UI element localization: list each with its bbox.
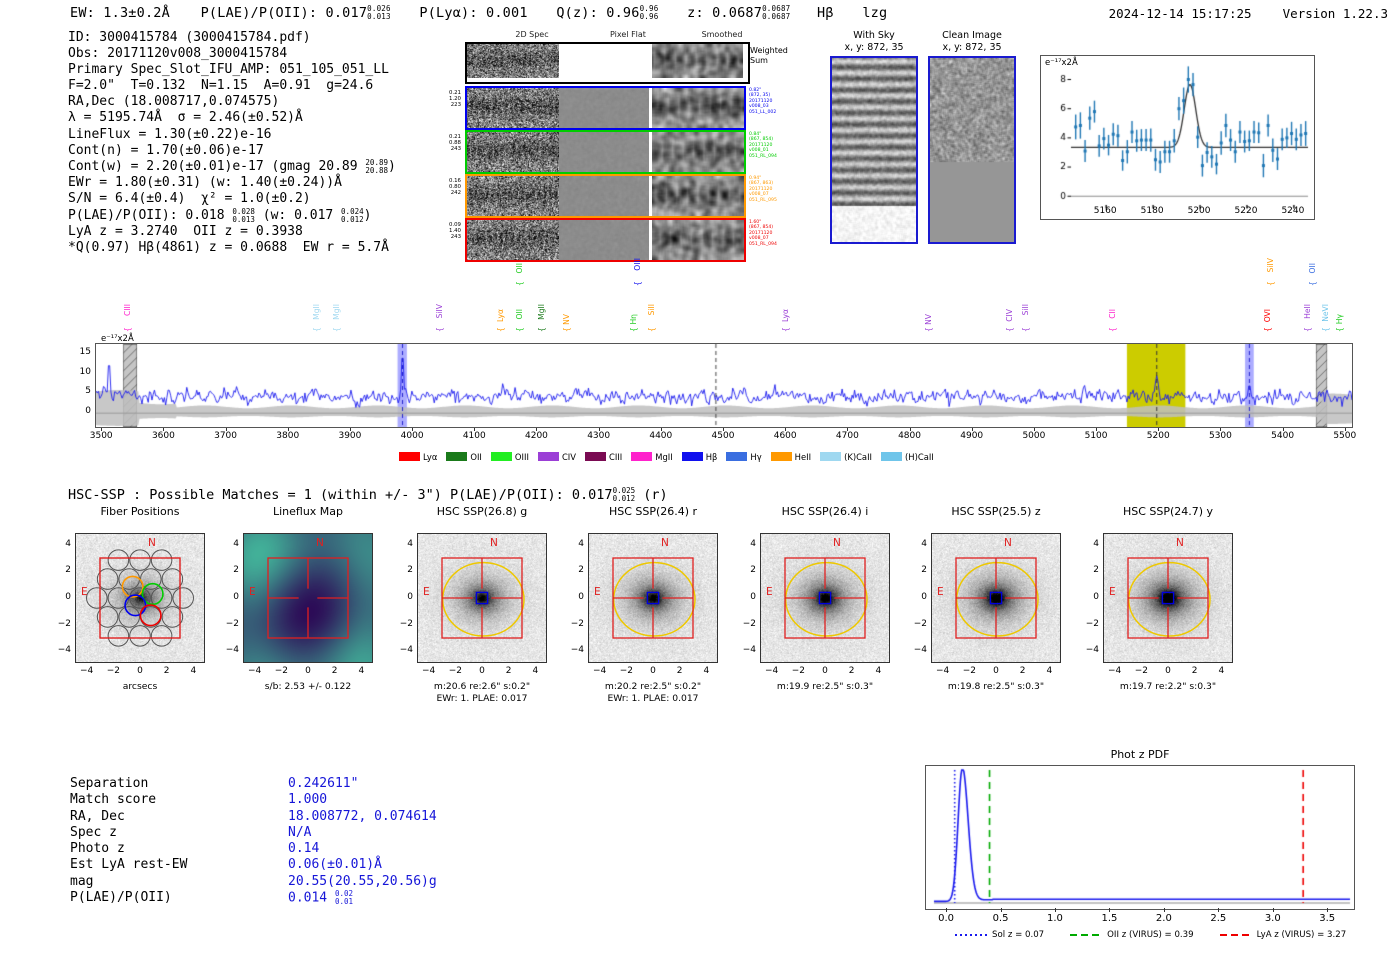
spectrum-xtick: 4500 <box>712 431 735 441</box>
cutout-xtick: −2 <box>1135 666 1148 676</box>
cutout-ytick: −2 <box>740 619 756 629</box>
spec2d-row-label: 1.60"(867, 854)20171120v008_07051_RL_094 <box>749 220 777 247</box>
emission-line-label: HeII <box>1303 304 1312 319</box>
emission-line-label: OII <box>515 263 524 273</box>
legend-label: CIII <box>609 452 622 462</box>
info-obs: Obs: 20171120v008_3000415784 <box>68 46 287 61</box>
emission-line-brace: { <box>1263 327 1272 332</box>
photz-xtick-mark <box>1164 908 1165 912</box>
info-cont-n: Cont(n) = 1.70(±0.06)e-17 <box>68 143 264 158</box>
info-plae-poii: P(LAE)/P(OII): 0.018 0.0280.013 (w: 0.01… <box>68 208 371 223</box>
match-table-value: 1.000 <box>288 792 437 808</box>
spectrum-xtick-mark <box>1096 428 1097 431</box>
match-table-label: Spec z <box>70 825 187 841</box>
match-table-label: Photo z <box>70 841 187 857</box>
cutout-xtick: −2 <box>963 666 976 676</box>
cutout-footer: m:19.7 re:2.2" s:0.3" <box>1068 681 1268 693</box>
cutout-footer-line1: s/b: 2.53 +/- 0.122 <box>208 681 408 693</box>
legend-item: (K)CaII <box>820 452 872 462</box>
spec2d-row-metrics: 0.091.40243 <box>423 222 461 240</box>
cutout-ytick: 0 <box>568 592 584 602</box>
cutout-ytick: 0 <box>911 592 927 602</box>
line-fit-xtick: 5200 <box>1188 206 1211 216</box>
spectrum-xtick: 3700 <box>214 431 237 441</box>
spec2d-col-header-pixelflat: Pixel Flat <box>583 30 673 39</box>
cutout-title: HSC SSP(26.4) r <box>563 505 743 518</box>
emission-line-label: OVI <box>1263 309 1272 322</box>
legend-item: MgII <box>631 452 672 462</box>
legend-label: OIII <box>515 452 529 462</box>
match-table-value: 0.06(±0.01)Å <box>288 857 437 873</box>
cutout-ytick: 2 <box>1083 565 1099 575</box>
spec2d-row-metrics: 0.160.80242 <box>423 178 461 196</box>
match-table-value: 0.242611" <box>288 776 437 792</box>
hsc-match-header: HSC-SSP : Possible Matches = 1 (within +… <box>68 487 668 503</box>
cutout-footer-line2: EWr: 1. PLAE: 0.017 <box>553 693 753 705</box>
with-sky-image <box>830 56 918 244</box>
photz-xtick-mark <box>1218 908 1219 912</box>
photz-legend-item: Sol z = 0.07 <box>955 930 1044 940</box>
emission-line-brace: { <box>647 327 656 332</box>
phot-z-legend: Sol z = 0.07OII z (VIRUS) = 0.39LyA z (V… <box>955 930 1346 940</box>
cutout-xtick: 2 <box>1192 666 1198 676</box>
cutout-footer-line1: m:20.6 re:2.6" s:0.2" <box>382 681 582 693</box>
spectrum-ytick: 0 <box>73 406 91 416</box>
photz-legend-swatch <box>1220 930 1252 940</box>
photz-legend-label: OII z (VIRUS) = 0.39 <box>1107 930 1193 940</box>
emission-line-label: SiII <box>1021 304 1030 315</box>
emission-line-label: OII <box>515 309 524 319</box>
emission-line-label: Lyα <box>781 309 790 322</box>
photz-xtick: 1.5 <box>1101 913 1117 924</box>
emission-line-brace: { <box>1021 327 1030 332</box>
match-table-label: Separation <box>70 776 187 792</box>
spec2d-row-metrics: 0.211.20223 <box>423 90 461 108</box>
header-z-value: 0.0687 <box>712 5 762 21</box>
cutout-xtick: −2 <box>107 666 120 676</box>
photz-xtick-mark <box>1273 908 1274 912</box>
cutout-ytick: 2 <box>911 565 927 575</box>
spectrum-xtick-mark <box>661 428 662 431</box>
emission-line-brace: { <box>1335 327 1344 332</box>
cutout-xtick: 2 <box>164 666 170 676</box>
spectrum-ytick: 15 <box>73 347 91 357</box>
cutout-ytick: −4 <box>55 645 71 655</box>
legend-swatch <box>726 452 747 461</box>
spec2d-row-label: 0.84"(867, 854)20171120v008_01051_RL_094 <box>749 132 777 159</box>
emission-line-brace: { <box>1303 327 1312 332</box>
cutout-footer: m:19.9 re:2.5" s:0.3" <box>725 681 925 693</box>
cutout-ytick: −2 <box>397 619 413 629</box>
cutout-ytick: 4 <box>1083 539 1099 549</box>
cutout-ytick: 4 <box>397 539 413 549</box>
emission-line-label: SiIV <box>1266 258 1275 272</box>
spec2d-row <box>465 218 746 262</box>
emission-line-brace: { <box>496 327 505 332</box>
match-table-label: P(LAE)/P(OII) <box>70 890 187 906</box>
spectrum-xtick-mark <box>599 428 600 431</box>
cutout-image <box>588 533 718 663</box>
emission-line-label: CII <box>1108 309 1117 319</box>
cutout-xtick: 4 <box>1218 666 1224 676</box>
spec2d-row <box>465 130 746 174</box>
spectrum-xtick-mark <box>1345 428 1346 431</box>
cutout-title: HSC SSP(26.4) i <box>735 505 915 518</box>
compass-north: N <box>490 537 498 549</box>
photz-xtick-mark <box>1327 908 1328 912</box>
spectrum-xtick-mark <box>226 428 227 431</box>
photz-legend-item: OII z (VIRUS) = 0.39 <box>1070 930 1193 940</box>
emission-line-brace: { <box>332 327 341 332</box>
cutout-xtick: 4 <box>358 666 364 676</box>
spectrum-xtick: 4700 <box>836 431 859 441</box>
legend-label: Lyα <box>423 452 437 462</box>
emission-line-label: SiIV <box>435 304 444 318</box>
emission-line-brace: { <box>781 327 790 332</box>
header-plya: P(Lyα): 0.001 <box>419 5 527 21</box>
info-qz-line: *Q(0.97) Hβ(4861) z = 0.0688 EW r = 5.7Å <box>68 240 389 255</box>
line-fit-xtick: 5240 <box>1281 206 1304 216</box>
spectrum-xtick-mark <box>101 428 102 431</box>
photz-xtick-mark <box>1055 908 1056 912</box>
line-fit-xtick: 5180 <box>1141 206 1164 216</box>
spectrum-xtick: 3800 <box>276 431 299 441</box>
emission-line-label: Hη <box>629 314 638 325</box>
header-summary-line: EW: 1.3±0.2Å P(LAE)/P(OII): 0.0170.0260.… <box>70 5 887 21</box>
spectrum-xtick: 4100 <box>463 431 486 441</box>
cutout-xtick: 0 <box>137 666 143 676</box>
cutout-image <box>760 533 890 663</box>
match-table-label: RA, Dec <box>70 809 187 825</box>
spectrum-xtick: 5500 <box>1333 431 1356 441</box>
spec2d-row-metrics: 0.210.88243 <box>423 134 461 152</box>
cutout-xtick: −2 <box>449 666 462 676</box>
photz-xtick: 3.5 <box>1319 913 1335 924</box>
photz-legend-item: LyA z (VIRUS) = 3.27 <box>1220 930 1347 940</box>
match-table-value: 20.55(20.55,20.56)g <box>288 874 437 890</box>
emission-line-label: OII <box>1308 263 1317 273</box>
weighted-sum-label: Weighted Sum <box>750 46 788 65</box>
spectrum-xtick-mark <box>785 428 786 431</box>
legend-swatch <box>881 452 902 461</box>
cutout-xtick: 4 <box>875 666 881 676</box>
info-sn-chi2: S/N = 6.4(±0.4) χ² = 1.0(±0.2) <box>68 191 311 206</box>
compass-north: N <box>661 537 669 549</box>
spectrum-xtick: 3600 <box>152 431 175 441</box>
emission-line-brace: { <box>633 281 642 286</box>
emission-line-brace: { <box>1108 327 1117 332</box>
cutout-footer-line1: m:19.7 re:2.2" s:0.3" <box>1068 681 1268 693</box>
photz-legend-label: Sol z = 0.07 <box>992 930 1044 940</box>
cutout-ytick: −2 <box>55 619 71 629</box>
spectrum-xtick: 4600 <box>774 431 797 441</box>
cutout-xtick: 0 <box>650 666 656 676</box>
spectrum-xtick-mark <box>412 428 413 431</box>
legend-label: (K)CaII <box>844 452 872 462</box>
cutout-ytick: 4 <box>740 539 756 549</box>
with-sky-title: With Sky x, y: 872, 35 <box>826 30 922 53</box>
compass-east: E <box>249 586 256 598</box>
cutout-xtick: 2 <box>506 666 512 676</box>
spec2d-metric: 242 <box>423 190 461 196</box>
info-fwhm-line: F=2.0" T=0.132 N=1.15 A=0.91 g=24.6 <box>68 78 373 93</box>
spectrum-xtick-mark <box>1034 428 1035 431</box>
cutout-image <box>75 533 205 663</box>
emission-line-brace: { <box>515 281 524 286</box>
spectrum-xtick-mark <box>910 428 911 431</box>
spec2d-label-line: 051_RL_094 <box>749 154 777 159</box>
compass-east: E <box>81 586 88 598</box>
emission-line-brace: { <box>435 327 444 332</box>
cutout-xtick: 2 <box>1020 666 1026 676</box>
match-table-values: 0.242611"1.00018.008772, 0.074614N/A0.14… <box>288 776 437 907</box>
info-id: ID: 3000415784 (3000415784.pdf) <box>68 30 311 45</box>
legend-label: HeII <box>795 452 811 462</box>
photz-xtick-mark <box>1109 908 1110 912</box>
emission-line-label: Lyα <box>496 309 505 322</box>
spec2d-col-header-2dspec: 2D Spec <box>487 30 577 39</box>
header-ew: EW: 1.3±0.2Å <box>70 5 170 21</box>
legend-item: Lyα <box>399 452 437 462</box>
header-timestamp: 2024-12-14 15:17:25 <box>1109 6 1252 21</box>
emission-line-brace: { <box>123 327 132 332</box>
spectrum-xtick: 4000 <box>401 431 424 441</box>
compass-east: E <box>594 586 601 598</box>
legend-swatch <box>446 452 467 461</box>
spectrum-xtick: 3500 <box>90 431 113 441</box>
cutout-image <box>243 533 373 663</box>
cutout-ytick: −4 <box>911 645 927 655</box>
cutout-title: Fiber Positions <box>50 505 230 518</box>
cutout-xtick: −4 <box>80 666 93 676</box>
phot-z-title: Phot z PDF <box>1111 748 1170 761</box>
legend-swatch <box>538 452 559 461</box>
compass-north: N <box>833 537 841 549</box>
spectrum-xtick-mark <box>1283 428 1284 431</box>
cutout-xtick: 0 <box>305 666 311 676</box>
cutout-xtick: −4 <box>593 666 606 676</box>
spec2d-metric: 243 <box>423 234 461 240</box>
cutout-ytick: 4 <box>223 539 239 549</box>
spectrum-xtick-mark <box>163 428 164 431</box>
cutout-image <box>931 533 1061 663</box>
spec2d-col-header-smoothed: Smoothed <box>677 30 767 39</box>
cutout-xtick: −4 <box>765 666 778 676</box>
header-line-name: Hβ <box>817 5 834 21</box>
cutout-title: HSC SSP(26.8) g <box>392 505 572 518</box>
legend-item: CIII <box>585 452 622 462</box>
spectrum-xtick: 5000 <box>1022 431 1045 441</box>
match-table-value: 18.008772, 0.074614 <box>288 809 437 825</box>
spectrum-xtick-mark <box>1158 428 1159 431</box>
photz-xtick-mark <box>1001 908 1002 912</box>
header-version-block: 2024-12-14 15:17:25 Version 1.22.3 <box>1109 6 1388 21</box>
spec2d-label-line: 051_RL_094 <box>749 242 777 247</box>
cutout-ytick: 0 <box>740 592 756 602</box>
legend-item: CIV <box>538 452 576 462</box>
line-fit-xtick: 5220 <box>1235 206 1258 216</box>
emission-line-label: SiII <box>647 304 656 315</box>
cutout-ytick: −2 <box>911 619 927 629</box>
header-version: Version 1.22.3 <box>1283 6 1388 21</box>
source-info-block: ID: 3000415784 (3000415784.pdf) Obs: 201… <box>68 30 396 256</box>
header-plae-label: P(LAE)/P(OII): <box>201 5 318 21</box>
emission-line-brace: { <box>562 327 571 332</box>
cutout-xtick: −2 <box>620 666 633 676</box>
emission-line-brace: { <box>629 327 638 332</box>
cutout-xtick: 2 <box>849 666 855 676</box>
full-spectrum-chart: e⁻¹⁷x2Å <box>95 343 1353 428</box>
photz-xtick: 0.0 <box>938 913 954 924</box>
spectrum-xtick-mark <box>288 428 289 431</box>
clean-image <box>928 56 1016 244</box>
cutout-ytick: 2 <box>740 565 756 575</box>
cutout-ytick: −2 <box>223 619 239 629</box>
header-flag: lzg <box>862 5 887 21</box>
header-z-lo: 0.0687 <box>762 13 790 21</box>
info-primary-amp: Primary Spec_Slot_IFU_AMP: 051_105_051_L… <box>68 62 389 77</box>
cutout-xtick: 2 <box>677 666 683 676</box>
compass-east: E <box>937 586 944 598</box>
legend-swatch <box>682 452 703 461</box>
spectrum-legend: LyαOIIOIIICIVCIIIMgIIHβHγHeII(K)CaII(H)C… <box>399 450 1019 463</box>
legend-item: HeII <box>771 452 811 462</box>
legend-swatch <box>585 452 606 461</box>
header-qz-label: Q(z): <box>556 5 598 21</box>
spectrum-xtick: 4400 <box>649 431 672 441</box>
spectrum-xtick-mark <box>536 428 537 431</box>
legend-label: MgII <box>655 452 672 462</box>
photz-xtick: 3.0 <box>1265 913 1281 924</box>
weighted-sum-box <box>465 42 750 84</box>
cutout-ytick: 0 <box>1083 592 1099 602</box>
photz-legend-swatch <box>1070 930 1102 940</box>
header-plae-lo: 0.013 <box>367 13 391 21</box>
header-qz-value: 0.96 <box>606 5 639 21</box>
cutout-xtick: 4 <box>532 666 538 676</box>
spectrum-xtick: 4300 <box>587 431 610 441</box>
cutout-ytick: 0 <box>55 592 71 602</box>
cutout-footer: m:20.2 re:2.5" s:0.2"EWr: 1. PLAE: 0.017 <box>553 681 753 705</box>
spectrum-xtick-mark <box>474 428 475 431</box>
legend-label: CIV <box>562 452 576 462</box>
spectrum-xtick: 5300 <box>1209 431 1232 441</box>
emission-line-label: NV <box>562 314 571 325</box>
legend-item: OII <box>446 452 482 462</box>
spectrum-ytick: 5 <box>73 386 91 396</box>
cutout-image <box>1103 533 1233 663</box>
cutout-ytick: 4 <box>568 539 584 549</box>
compass-north: N <box>1176 537 1184 549</box>
info-cont-w: Cont(w) = 2.20(±0.01)e-17 (gmag 20.89 20… <box>68 159 396 174</box>
match-table-label: Match score <box>70 792 187 808</box>
legend-swatch <box>491 452 512 461</box>
photz-xtick: 2.5 <box>1210 913 1226 924</box>
cutout-footer-line1: m:19.8 re:2.5" s:0.3" <box>896 681 1096 693</box>
cutout-xtick: 4 <box>1046 666 1052 676</box>
legend-item: Hγ <box>726 452 761 462</box>
cutout-xtick: −2 <box>792 666 805 676</box>
compass-east: E <box>423 586 430 598</box>
emission-line-brace: { <box>1266 281 1275 286</box>
legend-item: Hβ <box>682 452 718 462</box>
cutout-image <box>417 533 547 663</box>
spec2d-metric: 243 <box>423 146 461 152</box>
cutout-ytick: −4 <box>1083 645 1099 655</box>
info-ewr: EWr = 1.80(±0.31) (w: 1.40(±0.24))Å <box>68 175 342 190</box>
cutout-ytick: −4 <box>223 645 239 655</box>
emission-line-label: OIII <box>633 258 642 271</box>
spectrum-xtick: 5100 <box>1085 431 1108 441</box>
cutout-xtick: 4 <box>190 666 196 676</box>
cutout-xtick: 4 <box>703 666 709 676</box>
cutout-footer-line1: m:19.9 re:2.5" s:0.3" <box>725 681 925 693</box>
emission-line-label: CIV <box>1005 309 1014 322</box>
cutout-xtick: −2 <box>275 666 288 676</box>
spectrum-xtick: 4800 <box>898 431 921 441</box>
cutout-title: Lineflux Map <box>218 505 398 518</box>
spectrum-xtick-mark <box>350 428 351 431</box>
emission-line-label: MgII <box>312 304 321 320</box>
cutout-xtick: 0 <box>822 666 828 676</box>
cutout-xtick: 2 <box>332 666 338 676</box>
emission-line-label: NV <box>924 314 933 325</box>
legend-label: OII <box>470 452 482 462</box>
legend-swatch <box>399 452 420 461</box>
cutout-xtick: −4 <box>1108 666 1121 676</box>
emission-line-label: Hγ <box>1335 314 1344 324</box>
legend-swatch <box>771 452 792 461</box>
photz-xtick: 1.0 <box>1047 913 1063 924</box>
match-table-value: 0.014 0.020.01 <box>288 890 437 907</box>
cutout-ytick: 2 <box>568 565 584 575</box>
compass-east: E <box>766 586 773 598</box>
cutout-footer: m:20.6 re:2.6" s:0.2"EWr: 1. PLAE: 0.017 <box>382 681 582 705</box>
cutout-title: HSC SSP(24.7) y <box>1078 505 1258 518</box>
match-table-labels: SeparationMatch scoreRA, DecSpec zPhoto … <box>70 776 187 906</box>
cutout-ytick: 0 <box>223 592 239 602</box>
cutout-ytick: 4 <box>911 539 927 549</box>
cutout-ytick: −4 <box>740 645 756 655</box>
line-fit-chart: e⁻¹⁷x2Å <box>1040 55 1315 220</box>
spec2d-row-label: 0.94"(867, 863)20171120v008_07051_RL_095 <box>749 176 777 203</box>
spec2d-metric: 223 <box>423 102 461 108</box>
cutout-ytick: 0 <box>397 592 413 602</box>
legend-swatch <box>631 452 652 461</box>
spec2d-row <box>465 174 746 218</box>
emission-line-label: CIII <box>123 304 132 316</box>
cutout-ytick: 4 <box>55 539 71 549</box>
spectrum-xtick-mark <box>847 428 848 431</box>
full-spectrum-annotation: e⁻¹⁷x2Å <box>101 334 134 344</box>
legend-label: Hβ <box>706 452 718 462</box>
cutout-title: HSC SSP(25.5) z <box>906 505 1086 518</box>
emission-line-brace: { <box>312 327 321 332</box>
spectrum-xtick: 4200 <box>525 431 548 441</box>
legend-item: OIII <box>491 452 529 462</box>
cutout-ytick: −2 <box>568 619 584 629</box>
spec2d-row <box>465 86 746 130</box>
emission-line-label: NeVI <box>1321 304 1330 322</box>
spectrum-xtick-mark <box>972 428 973 431</box>
emission-line-brace: { <box>1005 327 1014 332</box>
cutout-ytick: 2 <box>223 565 239 575</box>
spec2d-panel: 2D Spec Pixel Flat Smoothed Weighted Sum… <box>455 30 815 260</box>
photz-xtick-mark <box>946 908 947 912</box>
compass-east: E <box>1109 586 1116 598</box>
cutout-ytick: 2 <box>397 565 413 575</box>
emission-line-brace: { <box>537 327 546 332</box>
